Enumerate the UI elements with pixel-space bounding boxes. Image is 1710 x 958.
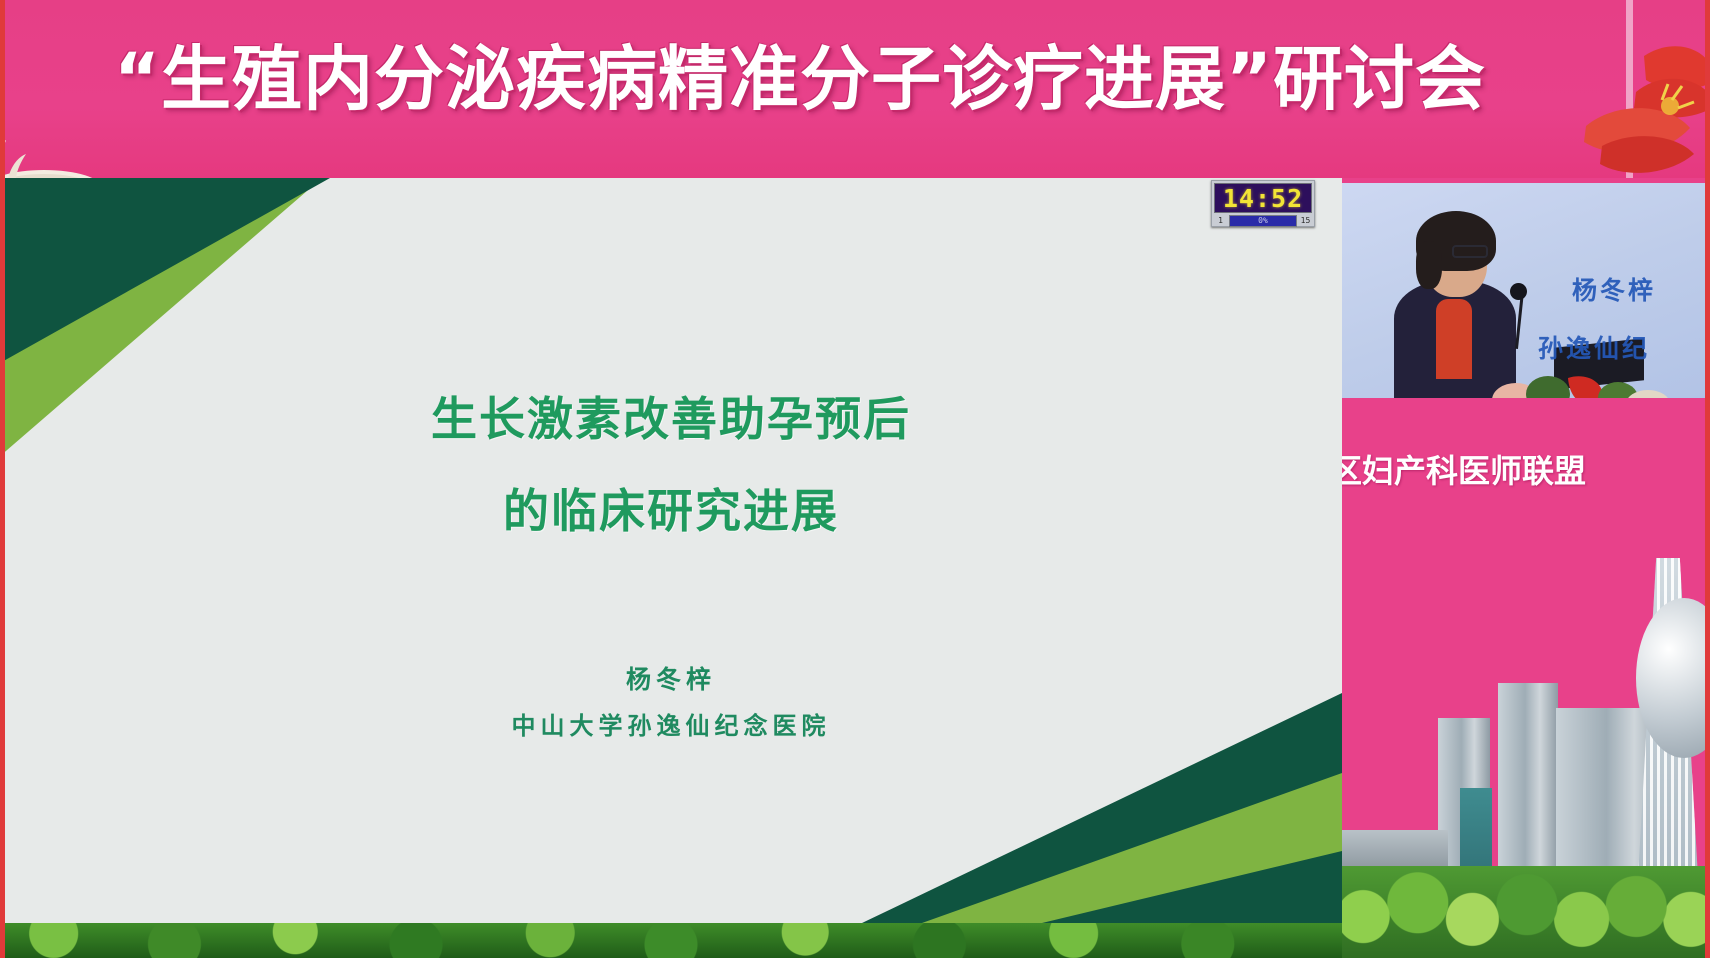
page-title: “生殖内分泌疾病精准分子诊疗进展”研讨会 [0, 44, 1710, 114]
timer-start-label: 1 [1214, 217, 1227, 225]
page-edge-left [0, 0, 5, 958]
slide-content: 生长激素改善助孕预后 的临床研究进展 杨冬梓 中山大学孙逸仙纪念医院 [0, 178, 1342, 923]
slide-presenter-organization: 中山大学孙逸仙纪念医院 [0, 706, 1342, 741]
tree-foliage-icon [1342, 866, 1710, 958]
right-panel-label: 区妇产科医师联盟 [1342, 446, 1710, 492]
slide-title-line-1: 生长激素改善助孕预后 [0, 383, 1342, 449]
speaker-glasses-icon [1452, 245, 1488, 258]
timer-time-value: 14:52 [1223, 186, 1303, 211]
slide-presenter-name: 杨冬梓 [0, 660, 1342, 696]
presentation-slide[interactable]: 生长激素改善助孕预后 的临床研究进展 杨冬梓 中山大学孙逸仙纪念医院 [0, 178, 1342, 923]
speaker-video-thumbnail[interactable]: 杨冬梓 孙逸仙纪 [1342, 183, 1710, 398]
timer-progress-row: 1 0% 15 [1214, 214, 1312, 227]
slide-title-line-2: 的临床研究进展 [0, 475, 1342, 541]
screenshot-stage: “生殖内分泌疾病精准分子诊疗进展”研讨会 生长激素改善助孕预后 的临床研究进展 … [0, 0, 1710, 958]
city-skyline-photo [1342, 558, 1710, 958]
timer-progress-percent: 0% [1258, 217, 1268, 225]
speaker-scarf-icon [1436, 299, 1472, 379]
stage-flowers-icon [1490, 364, 1680, 398]
video-screen-speaker-name: 杨冬梓 [1572, 271, 1656, 307]
event-banner: “生殖内分泌疾病精准分子诊疗进展”研讨会 [0, 0, 1710, 178]
page-edge-right [1705, 0, 1710, 958]
timer-display: 14:52 [1214, 183, 1312, 213]
microphone-icon [1510, 283, 1527, 300]
timer-end-label: 15 [1299, 217, 1312, 225]
speaker-hair-side-icon [1416, 241, 1442, 289]
right-side-panel: 杨冬梓 孙逸仙纪 区妇产科医师联盟 [1342, 178, 1710, 958]
video-screen-organization: 孙逸仙纪 [1538, 329, 1650, 365]
countdown-timer-widget[interactable]: 14:52 1 0% 15 [1211, 180, 1315, 227]
timer-progress-bar[interactable]: 0% [1229, 215, 1297, 227]
bottom-foliage-strip [0, 923, 1342, 958]
